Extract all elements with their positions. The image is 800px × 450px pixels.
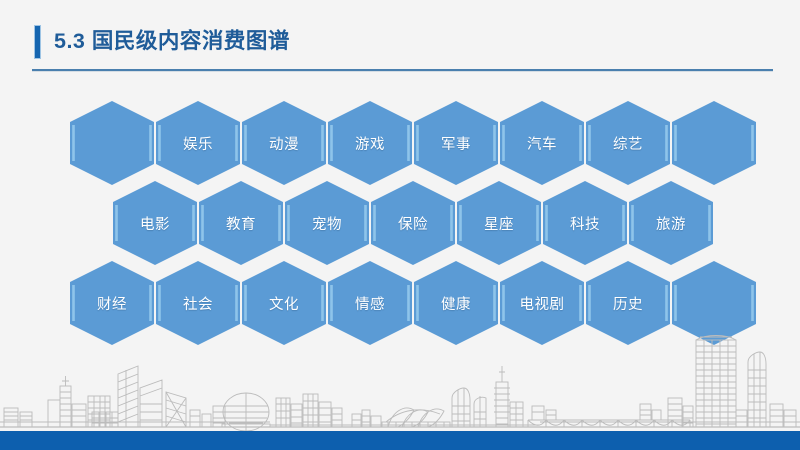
hexagon-cell-7[interactable]: 旅游 (629, 181, 713, 265)
hexagon-shape (543, 181, 627, 265)
hexagon-cell-2[interactable]: 教育 (199, 181, 283, 265)
hexagon-shape (156, 101, 240, 185)
hexagon-row-2: 电影教育宠物保险星座科技旅游 (0, 181, 800, 267)
hexagon-cell-3[interactable]: 宠物 (285, 181, 369, 265)
hexagon-cell-6[interactable]: 汽车 (500, 101, 584, 185)
footer-bar (0, 431, 800, 450)
hexagon-cell-empty[interactable] (672, 101, 756, 185)
hexagon-shape (500, 101, 584, 185)
cityscape-decoration (0, 326, 800, 431)
hexagon-shape (629, 181, 713, 265)
hexagon-shape (285, 181, 369, 265)
hexagon-shape (242, 101, 326, 185)
hexagon-shape (199, 181, 283, 265)
hexagon-shape (586, 101, 670, 185)
hexagon-cell-empty[interactable] (70, 101, 154, 185)
hexagon-shape (672, 101, 756, 185)
page-title: 5.3 国民级内容消费图谱 (54, 31, 290, 53)
hexagon-shape (457, 181, 541, 265)
title-accent-bar (34, 25, 41, 59)
hexagon-cell-4[interactable]: 游戏 (328, 101, 412, 185)
slide-title-block: 5.3 国民级内容消费图谱 (34, 24, 290, 60)
hexagon-cell-2[interactable]: 娱乐 (156, 101, 240, 185)
hexagon-shape (414, 101, 498, 185)
hexagon-shape (113, 181, 197, 265)
hexagon-cell-5[interactable]: 军事 (414, 101, 498, 185)
hexagon-cell-5[interactable]: 星座 (457, 181, 541, 265)
hexagon-cell-4[interactable]: 保险 (371, 181, 455, 265)
title-divider-rule-shadow (32, 71, 773, 72)
hexagon-cell-1[interactable]: 电影 (113, 181, 197, 265)
slide-canvas: 5.3 国民级内容消费图谱 娱乐动漫游戏军事汽车综艺 电影教育宠物保险星座科技旅… (0, 0, 800, 450)
hexagon-shape (70, 101, 154, 185)
hexagon-cell-3[interactable]: 动漫 (242, 101, 326, 185)
hexagon-cell-7[interactable]: 综艺 (586, 101, 670, 185)
hexagon-shape (328, 101, 412, 185)
hexagon-row-1: 娱乐动漫游戏军事汽车综艺 (0, 101, 800, 187)
hexagon-shape (371, 181, 455, 265)
hexagon-cell-6[interactable]: 科技 (543, 181, 627, 265)
